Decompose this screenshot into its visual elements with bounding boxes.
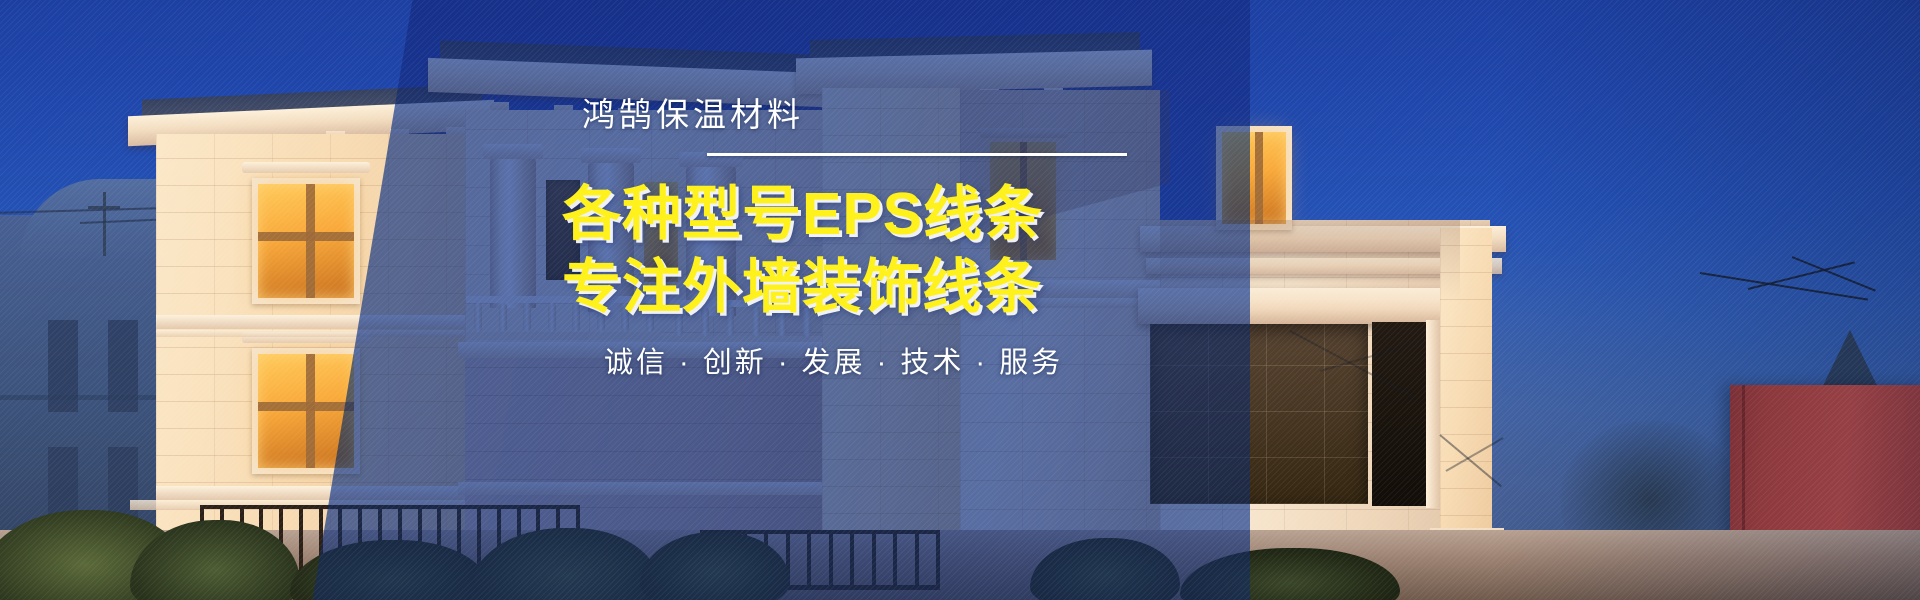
roof-mast [103,192,106,256]
garage-opening [1372,322,1428,506]
lit-window [258,184,354,298]
banner-copy: 鸿鹄保温材料 各种型号EPS线条 专注外墙装饰线条 诚信 · 创新 · 发展 ·… [562,98,1202,378]
headline-line-1: 各种型号EPS线条 [562,181,1043,247]
tagline: 诚信 · 创新 · 发展 · 技术 · 服务 [604,349,1202,378]
hero-banner: 鸿鹄保温材料 各种型号EPS线条 专注外墙装饰线条 诚信 · 创新 · 发展 ·… [0,0,1920,600]
page-title: 各种型号EPS线条 专注外墙装饰线条 [562,178,1202,323]
door-jamb [1426,320,1440,508]
divider-rule [707,153,1127,156]
window-frame [252,178,360,304]
headline-line-2: 专注外墙装饰线条 [562,251,1202,324]
brand-name: 鸿鹄保温材料 [582,98,1202,131]
right-vignette [1490,0,1920,600]
